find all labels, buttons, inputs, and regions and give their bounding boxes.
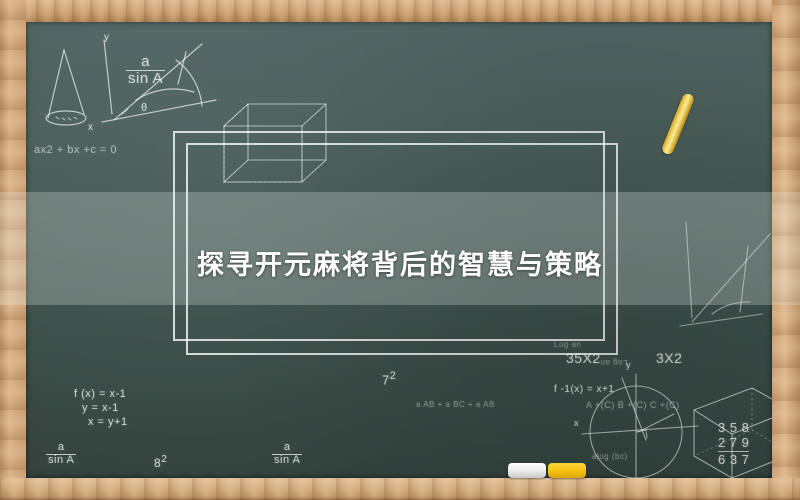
chalk-fraction-a-sinA: a sin A bbox=[126, 54, 165, 87]
chalk-bracket-expression: A +(C) B +(C) C +(C) bbox=[586, 400, 680, 410]
fraction-numerator: a bbox=[126, 54, 165, 71]
power-base: 7 bbox=[382, 372, 390, 387]
wood-frame-bottom-ledge bbox=[0, 478, 800, 500]
chalk-log-note-1: Log an bbox=[600, 358, 627, 367]
wood-frame-top bbox=[0, 0, 800, 22]
chalk-axis-x-label: x bbox=[88, 122, 94, 133]
chalk-angle-theta: θ bbox=[141, 102, 148, 114]
chalk-fn-2: y = x-1 bbox=[82, 401, 128, 415]
chalk-power-eight: 82 bbox=[154, 454, 167, 470]
chalk-axis-x-label-right: x bbox=[574, 418, 579, 428]
chalk-sum-row-2: 2 7 9 bbox=[718, 435, 749, 452]
fraction-numerator: a bbox=[46, 442, 76, 455]
fraction-denominator: sin A bbox=[272, 455, 302, 467]
chalk-axis-y-label-right: y bbox=[626, 360, 631, 370]
chalk-addition-column: 3 5 8 2 7 9 6 3 7 bbox=[718, 420, 749, 467]
chalk-small-expression: a AB + a BC + a AB bbox=[416, 400, 495, 409]
chalk-fraction-bottom-2: a sin A bbox=[272, 442, 302, 466]
fraction-numerator: a bbox=[272, 442, 302, 455]
chalk-log-note-2: alog (bc) bbox=[592, 452, 628, 461]
power-exponent: 2 bbox=[390, 370, 397, 382]
yellow-chalk-piece[interactable] bbox=[548, 463, 586, 478]
white-chalk-piece[interactable] bbox=[508, 463, 546, 478]
chalk-quadratic-equation: ax2 + bx +c = 0 bbox=[34, 144, 117, 156]
chalkboard-banner: a sin A y x θ ax2 + bx +c = 0 f (x) = x-… bbox=[0, 0, 800, 500]
chalk-fn-1: f (x) = x-1 bbox=[74, 387, 128, 401]
chalk-sum-row-1: 3 5 8 bbox=[718, 420, 749, 435]
chalk-multiplication-2: 3X2 bbox=[656, 350, 682, 366]
power-exponent: 2 bbox=[161, 454, 167, 465]
page-title: 探寻开元麻将背后的智慧与策略 bbox=[0, 243, 800, 282]
chalk-fn-3: x = y+1 bbox=[88, 415, 128, 429]
chalk-fraction-bottom-1: a sin A bbox=[46, 442, 76, 466]
chalk-sum-total: 6 3 7 bbox=[718, 452, 749, 467]
chalk-inverse-function: f -1(x) = x+1 bbox=[554, 384, 614, 395]
fraction-denominator: sin A bbox=[126, 71, 165, 87]
fraction-denominator: sin A bbox=[46, 455, 76, 467]
chalk-function-list: f (x) = x-1 y = x-1 x = y+1 bbox=[74, 387, 128, 429]
chalk-power-seven: 72 bbox=[382, 370, 396, 387]
chalk-axis-y-label: y bbox=[104, 32, 110, 43]
